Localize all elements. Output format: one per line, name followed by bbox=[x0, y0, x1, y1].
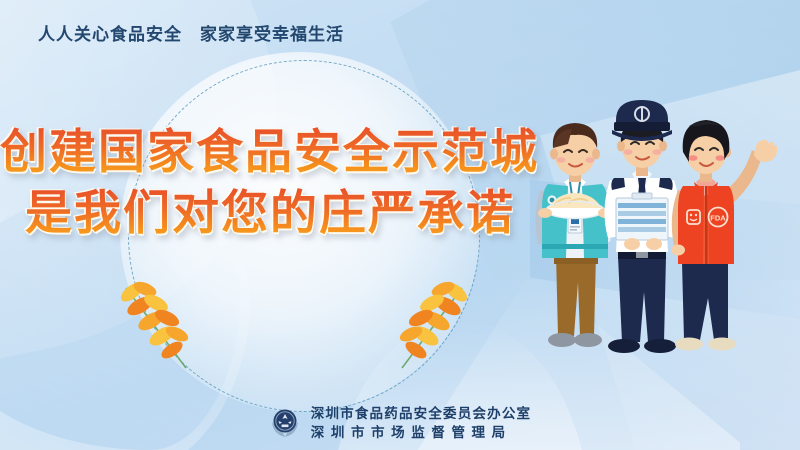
headline-block: 创建国家食品安全示范城市 是我们对您的庄严承诺 bbox=[0, 126, 540, 243]
headline-line-2: 是我们对您的庄严承诺 bbox=[0, 187, 540, 242]
footer-org-line-2: 深圳市市场监督管理局 bbox=[311, 423, 532, 442]
footer: 深圳市食品药品安全委员会办公室 深圳市市场监督管理局 bbox=[0, 404, 800, 442]
character-officer bbox=[604, 100, 679, 353]
wheat-ear-left-icon bbox=[110, 276, 200, 381]
government-seal-emblem-icon bbox=[269, 407, 301, 439]
character-food-inspector bbox=[535, 123, 612, 347]
characters-illustration: FDA bbox=[528, 86, 798, 386]
footer-org-line-1: 深圳市食品药品安全委员会办公室 bbox=[311, 404, 532, 423]
svg-text:FDA: FDA bbox=[710, 214, 726, 223]
wheat-ear-right-icon bbox=[388, 276, 478, 381]
top-slogan: 人人关心食品安全 家家享受幸福生活 bbox=[38, 20, 344, 45]
inspection-document-icon bbox=[616, 193, 668, 240]
food-safety-poster: 人人关心食品安全 家家享受幸福生活 创建国家食品安全示范城市 是我们对您的庄严承… bbox=[0, 0, 800, 450]
character-volunteer: FDA bbox=[671, 120, 777, 351]
headline-line-1: 创建国家食品安全示范城市 bbox=[0, 126, 540, 181]
footer-org-names: 深圳市食品药品安全委员会办公室 深圳市市场监督管理局 bbox=[311, 404, 532, 442]
